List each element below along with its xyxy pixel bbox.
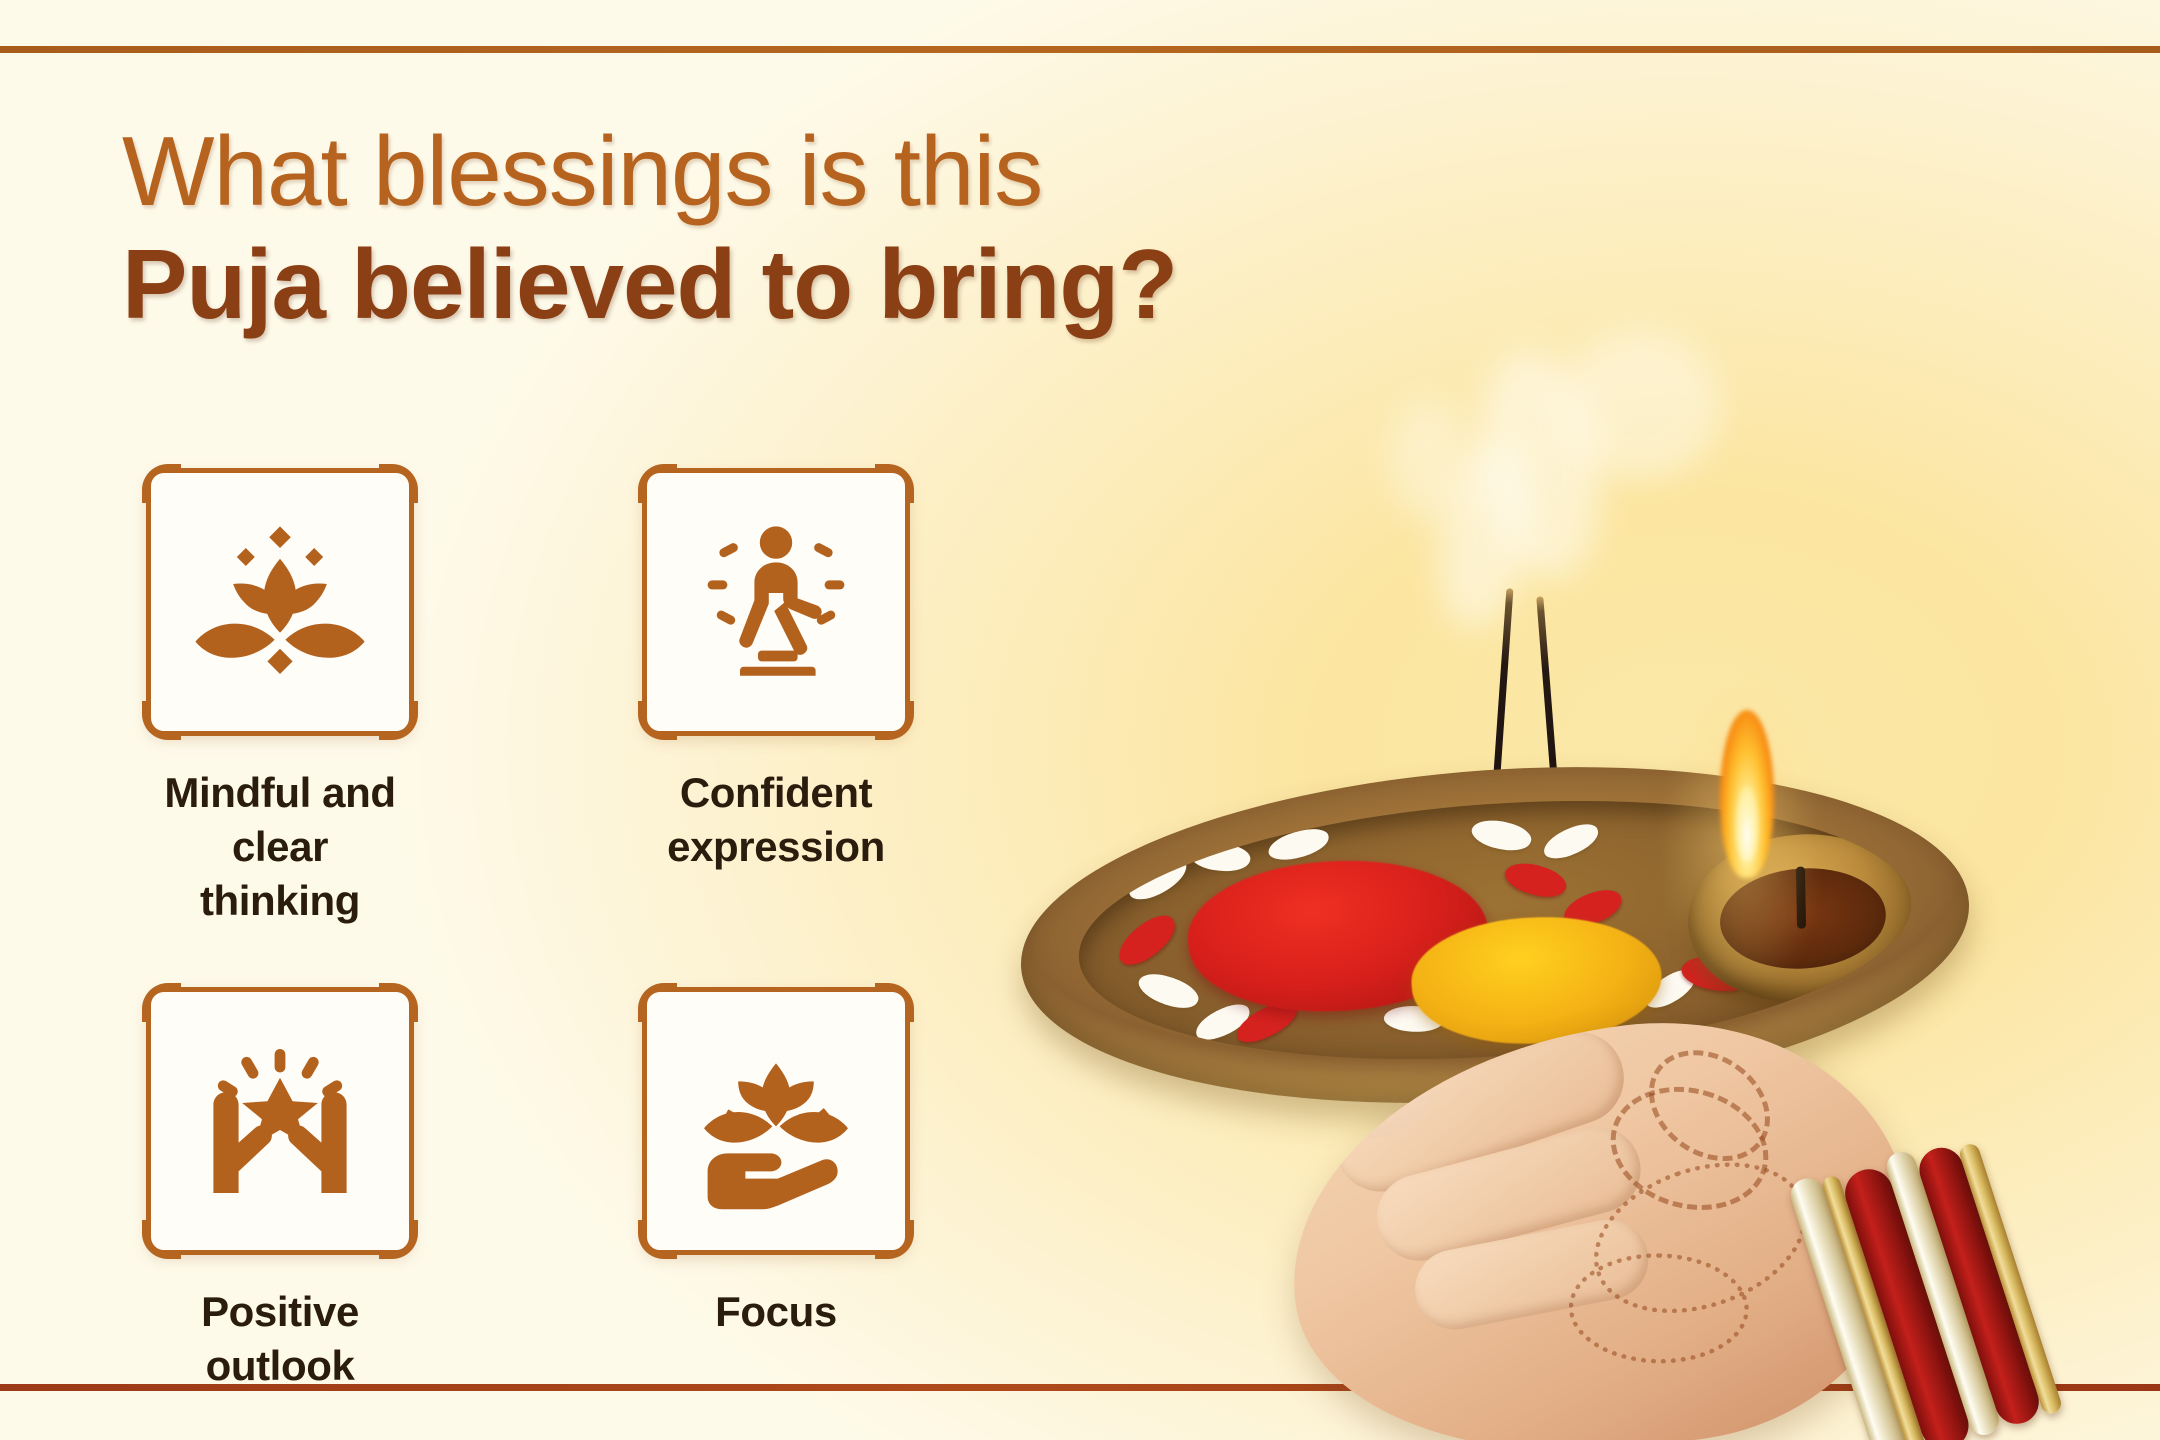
benefit-item-focus[interactable]: Focus [646, 987, 906, 1393]
benefit-label: Positive outlook [201, 1285, 359, 1393]
hands-star-icon [190, 1031, 370, 1211]
benefits-grid: Mindful and clear thinking [150, 468, 960, 1393]
headline-line-1: What blessings is this [122, 120, 1442, 224]
benefit-icon-card [146, 468, 414, 736]
benefits-row: Positive outlook Focus [150, 987, 960, 1393]
benefit-item-confident-expression[interactable]: Confident expression [646, 468, 906, 927]
benefit-icon-card [642, 468, 910, 736]
diya-flame-core [1736, 786, 1758, 862]
incense-smoke [1560, 330, 1720, 480]
white-petal [1134, 966, 1202, 1017]
puja-thali-photo [1140, 340, 2160, 1400]
benefit-label: Focus [715, 1285, 837, 1339]
incense-smoke [1390, 400, 1470, 520]
benefit-label: Confident expression [667, 766, 885, 874]
benefit-item-positive-outlook[interactable]: Positive outlook [150, 987, 410, 1393]
top-divider-rule [0, 46, 2160, 53]
benefit-label: Mindful and clear thinking [150, 766, 410, 927]
benefit-icon-card [642, 987, 910, 1255]
confident-person-icon [686, 512, 866, 692]
lotus-sparkle-icon [190, 512, 370, 692]
hand-lotus-icon [686, 1031, 866, 1211]
headline: What blessings is this Puja believed to … [122, 120, 1442, 340]
white-petal [1539, 819, 1602, 863]
rose-petal [1501, 855, 1570, 904]
poster: What blessings is this Puja believed to … [0, 0, 2160, 1440]
white-petal [1469, 814, 1534, 857]
benefit-icon-card [146, 987, 414, 1255]
rose-petal [1111, 909, 1184, 972]
benefits-row: Mindful and clear thinking [150, 468, 960, 927]
benefit-item-mindful-clear-thinking[interactable]: Mindful and clear thinking [150, 468, 410, 927]
headline-line-2: Puja believed to bring? [122, 230, 1442, 340]
